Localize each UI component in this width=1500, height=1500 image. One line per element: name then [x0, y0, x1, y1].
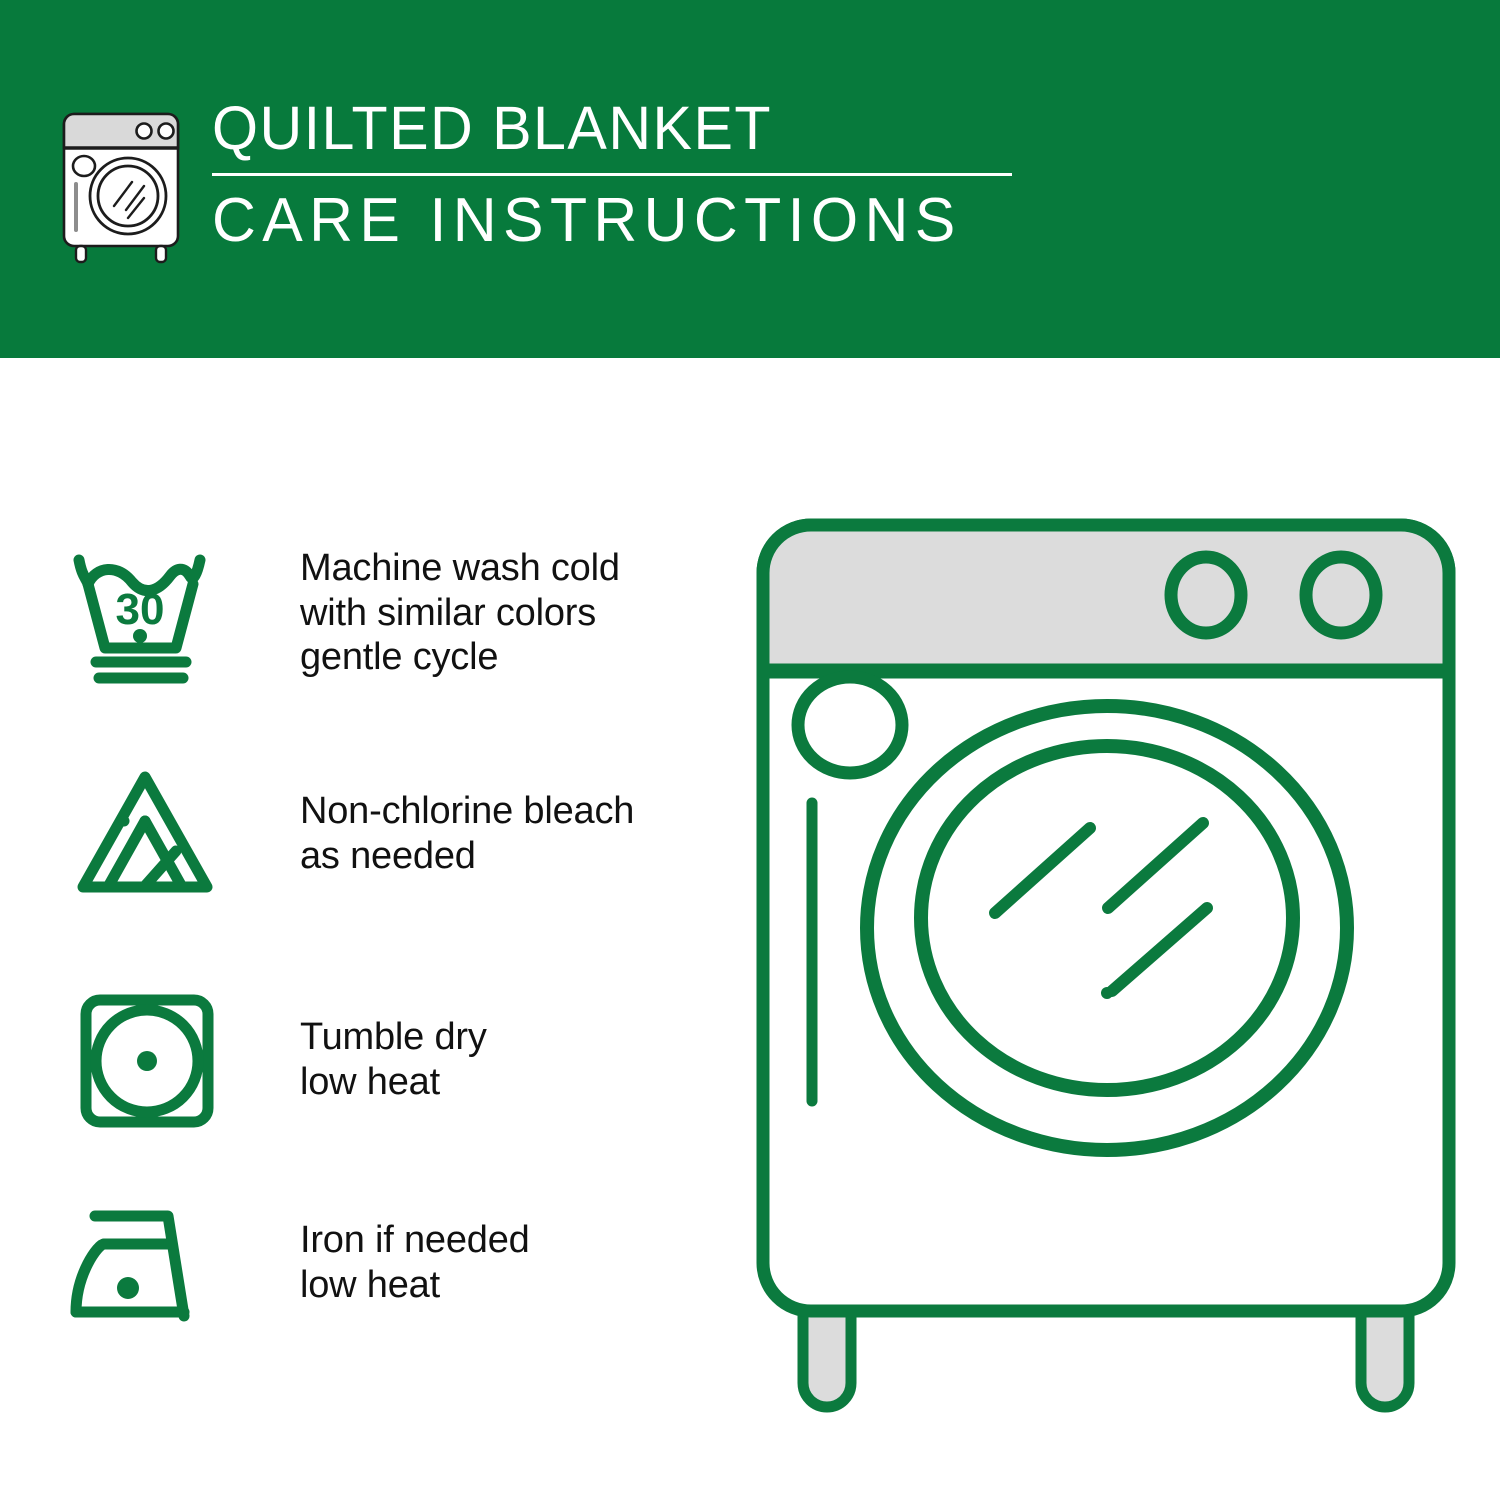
header-content: QUILTED BLANKET CARE INSTRUCTIONS	[58, 96, 1058, 271]
page-title: QUILTED BLANKET	[212, 98, 1033, 159]
title-divider	[212, 173, 1012, 176]
list-item: Non-chlorine bleach as needed	[66, 718, 726, 950]
header-banner: QUILTED BLANKET CARE INSTRUCTIONS	[0, 0, 1500, 358]
knob-left	[1171, 557, 1241, 633]
washing-machine-icon	[58, 100, 190, 265]
list-item: Iron if needed low heat	[66, 1170, 726, 1356]
page-subtitle: CARE INSTRUCTIONS	[212, 190, 1041, 252]
machine-leg	[803, 1303, 1409, 1407]
wash-temp-value: 30	[116, 585, 165, 634]
care-instruction-list: 30 Machine wash cold with similar colors…	[66, 508, 726, 1356]
list-item: 30 Machine wash cold with similar colors…	[66, 508, 726, 718]
wash-tub-30-gentle-icon: 30	[66, 538, 236, 688]
list-item-label: Non-chlorine bleach as needed	[300, 789, 634, 879]
iron-low-heat-icon	[66, 1188, 236, 1338]
washing-machine-illustration	[745, 503, 1465, 1453]
dispenser-circle	[798, 677, 902, 773]
content-area: 30 Machine wash cold with similar colors…	[0, 358, 1500, 1500]
knob-right	[1306, 557, 1376, 633]
tumble-dry-low-icon	[66, 985, 236, 1135]
non-chlorine-bleach-triangle-icon	[66, 759, 236, 909]
list-item-label: Machine wash cold with similar colors ge…	[300, 546, 620, 680]
list-item: Tumble dry low heat	[66, 950, 726, 1170]
list-item-label: Tumble dry low heat	[300, 1015, 487, 1105]
header-title-group: QUILTED BLANKET CARE INSTRUCTIONS	[212, 96, 1058, 252]
list-item-label: Iron if needed low heat	[300, 1218, 530, 1308]
